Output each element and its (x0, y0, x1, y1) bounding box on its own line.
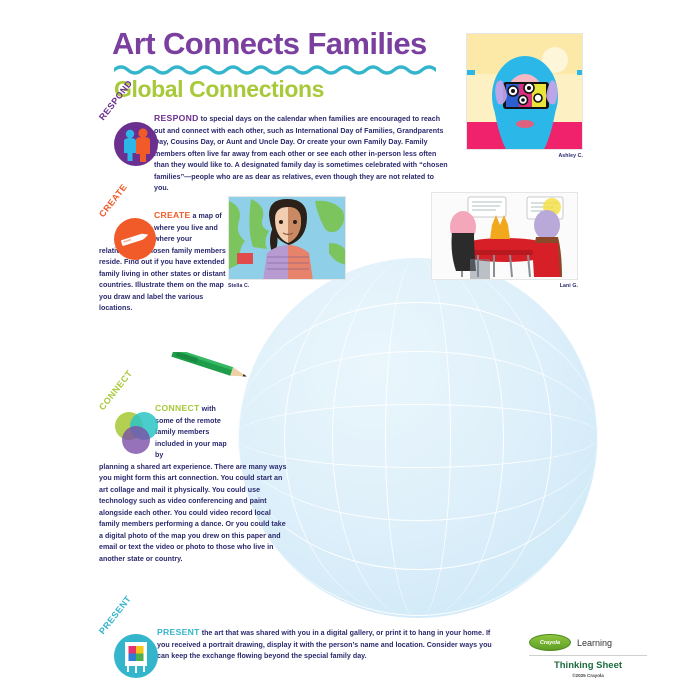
keyword-present: PRESENT (157, 627, 200, 637)
badge-respond: RESPOND (99, 112, 161, 170)
framed-art-icon (113, 633, 159, 679)
step-respond: RESPOND RESPOND to special days on the c… (99, 112, 449, 195)
venn-diagram-icon (111, 408, 161, 458)
artwork-image-ashley (466, 33, 583, 150)
artwork-caption-lani: Lani G. (431, 283, 578, 289)
logo-row: Crayola Learning (529, 634, 647, 651)
step-text-connect-head: CONNECT with some of the remote family m… (155, 402, 233, 462)
artwork-image-stella (228, 196, 346, 280)
crayon-icon (113, 217, 157, 261)
artwork-lani: Lani G. (431, 192, 578, 289)
keyword-connect: CONNECT (155, 403, 200, 413)
footer-divider (529, 655, 647, 656)
step-text-create-head: CREATE a map of where you live and where… (154, 209, 232, 246)
copyright-text: ©2025 Crayola (529, 673, 647, 678)
step-connect: CONNECT CONNECT with some of the remote … (99, 402, 289, 565)
step-text-respond: RESPOND to special days on the calendar … (154, 112, 449, 195)
page-title: Art Connects Families (112, 28, 436, 59)
page-subtitle: Global Connections (114, 78, 436, 101)
step-label-connect: CONNECT (97, 368, 134, 412)
badge-create: CREATE (99, 209, 161, 267)
step-body-respond: to special days on the calendar when fam… (154, 115, 448, 192)
two-people-icon (113, 121, 159, 167)
crayola-brand-text: Crayola (540, 640, 560, 646)
learning-label: Learning (577, 638, 612, 648)
artwork-stella: Stella C. (228, 196, 346, 289)
artwork-caption-ashley: Ashley C. (466, 153, 583, 159)
step-body-connect: planning a shared art experience. There … (99, 462, 289, 565)
sheet-type-label: Thinking Sheet (529, 660, 647, 671)
artwork-caption-stella: Stella C. (228, 283, 346, 289)
globe-graphic (238, 258, 598, 618)
step-create: CREATE CREATE a map of where you live an… (99, 209, 234, 315)
artwork-ashley: Ashley C. (466, 33, 583, 159)
page-header: Art Connects Families Global Connections (112, 28, 436, 101)
step-text-present: PRESENT the art that was shared with you… (157, 626, 499, 663)
step-present: PRESENT PRESENT the art that was shared … (99, 626, 499, 663)
footer-branding: Crayola Learning Thinking Sheet ©2025 Cr… (529, 634, 647, 678)
green-pencil-icon (168, 352, 264, 389)
step-body-present: the art that was shared with you in a di… (157, 629, 492, 660)
worksheet-page: Art Connects Families Global Connections (0, 0, 700, 700)
artwork-image-lani (431, 192, 578, 280)
step-body-connect-head: with some of the remote family members i… (155, 405, 227, 459)
crayola-logo-icon: Crayola (529, 634, 571, 651)
badge-connect: CONNECT (99, 402, 161, 460)
step-label-present: PRESENT (97, 594, 133, 636)
wave-divider-icon (114, 64, 436, 75)
badge-present: PRESENT (99, 626, 161, 684)
